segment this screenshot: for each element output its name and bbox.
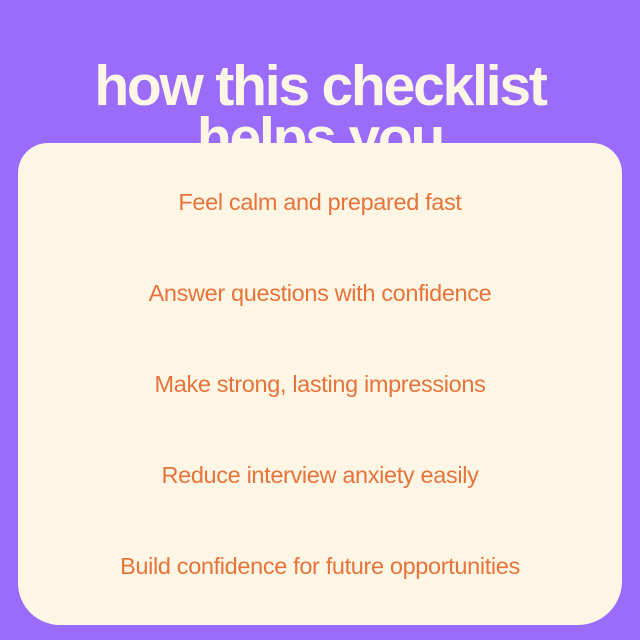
list-item: Feel calm and prepared fast: [30, 157, 610, 248]
benefit-label: Feel calm and prepared fast: [178, 188, 461, 216]
list-item: Make strong, lasting impressions: [30, 339, 610, 430]
list-item: Reduce interview anxiety easily: [30, 430, 610, 521]
benefit-label: Reduce interview anxiety easily: [161, 461, 478, 489]
benefit-label: Build confidence for future opportunitie…: [120, 552, 520, 580]
list-item: Answer questions with confidence: [30, 248, 610, 339]
list-item: Build confidence for future opportunitie…: [30, 521, 610, 612]
benefit-label: Make strong, lasting impressions: [155, 370, 486, 398]
benefits-poster: how this checklist helps you Feel calm a…: [0, 0, 640, 640]
benefits-card: Feel calm and prepared fast Answer quest…: [18, 143, 622, 625]
benefit-label: Answer questions with confidence: [149, 279, 492, 307]
